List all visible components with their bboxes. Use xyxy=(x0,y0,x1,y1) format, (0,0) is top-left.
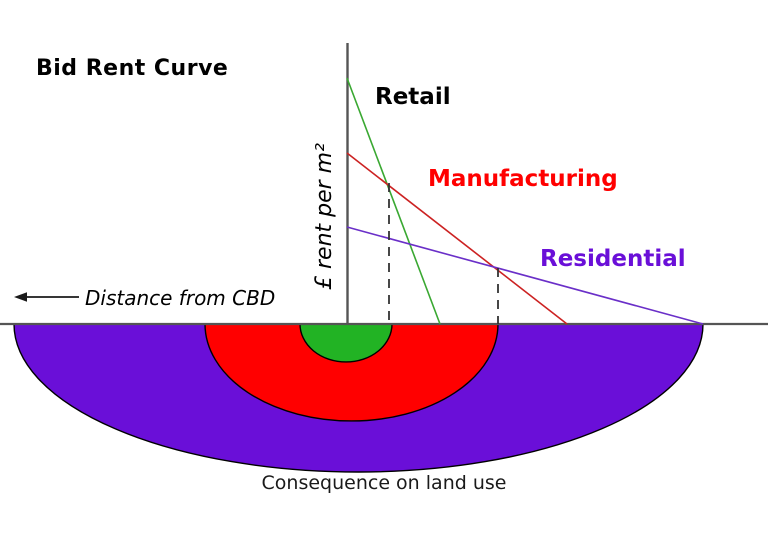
bid-rent-curve-diagram: Bid Rent Curve Retail Manufacturing Resi… xyxy=(0,0,768,547)
y-axis-label: £ rent per m² xyxy=(312,266,502,290)
series-label-retail: Retail xyxy=(375,84,451,110)
x-axis-label: Distance from CBD xyxy=(85,286,275,310)
land-use-zones xyxy=(14,324,703,472)
page-title: Bid Rent Curve xyxy=(36,56,228,81)
series-label-residential: Residential xyxy=(540,246,686,272)
distance-arrow-icon xyxy=(14,292,79,302)
series-label-manufacturing: Manufacturing xyxy=(428,166,618,192)
diagram-caption: Consequence on land use xyxy=(0,472,768,494)
